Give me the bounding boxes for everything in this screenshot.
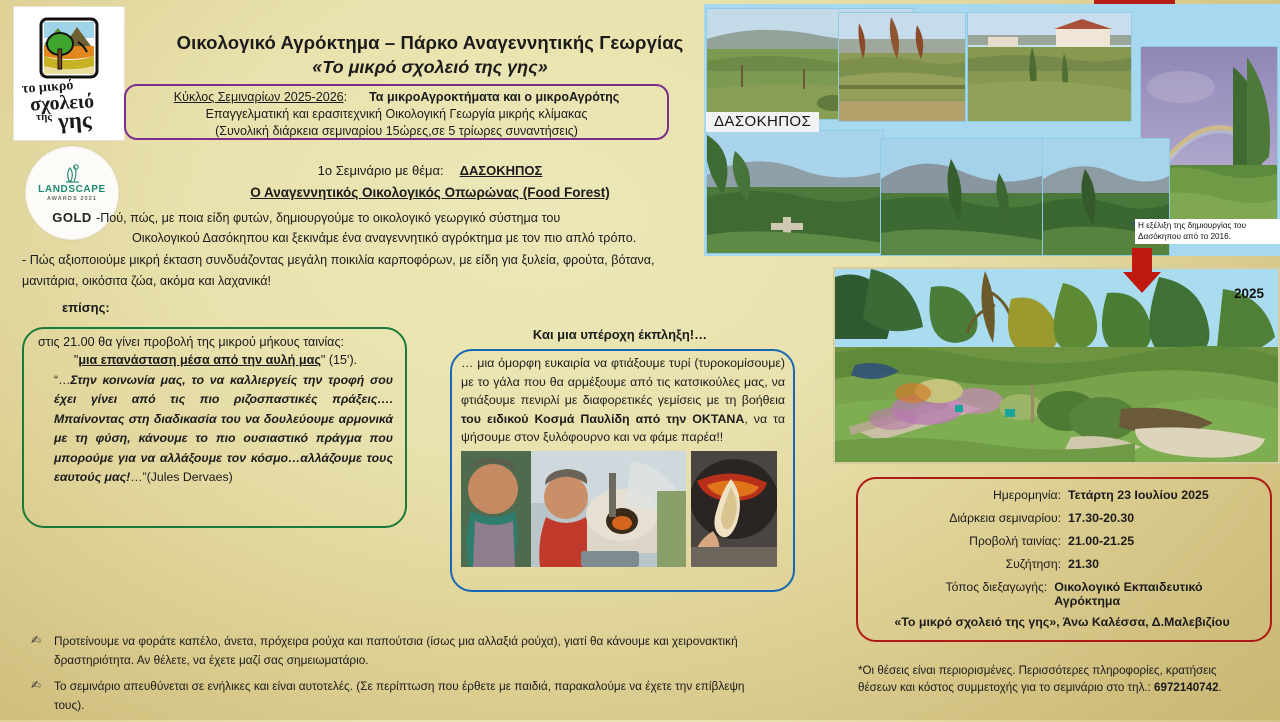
detail-row-duration: Διάρκεια σεμιναρίου: 17.30-20.30 xyxy=(868,511,1256,525)
seminar-heading: 1ο Σεμινάριο με θέμα:ΔΑΣΟΚΗΠΟΣ xyxy=(150,163,710,178)
note-text-1: Προτείνουμε να φοράτε καπέλο, άνετα, πρό… xyxy=(54,632,763,670)
detail-value-date: Τετάρτη 23 Ιουλίου 2025 xyxy=(1068,488,1209,502)
booking-footnote: *Οι θέσεις είναι περιορισμένες. Περισσότ… xyxy=(858,662,1258,696)
detail-value-discussion: 21.30 xyxy=(1068,557,1099,571)
poster-canvas: το μικρό σχολειό της γης LANDSCAPE AWARD… xyxy=(0,0,1280,720)
collage-photo-2020-mid xyxy=(880,138,1048,256)
food-forest-garden-2025-photo: 2025 xyxy=(833,267,1280,464)
seminar-paragraph-1a: -Πού, πώς, με ποια είδη φυτών, δημιουργο… xyxy=(96,211,560,225)
detail-venue-address: «Το μικρό σχολειό της γης», Άνω Καλέσσα,… xyxy=(868,614,1256,631)
collage-photo-2018 xyxy=(838,12,966,122)
seminar-cycle-box: Κύκλος Σεμιναρίων 2025-2026:Τα μικροΑγρο… xyxy=(124,84,669,140)
collage-label-dasokipos: ΔΑΣΟΚΗΠΟΣ xyxy=(706,112,819,132)
photo-year-2025: 2025 xyxy=(1234,286,1264,301)
collage-photo-2019 xyxy=(967,12,1132,122)
detail-label-duration: Διάρκεια σεμιναρίου: xyxy=(868,511,1068,525)
logo-word-3: της xyxy=(36,111,52,123)
film-screening-box: στις 21.00 θα γίνει προβολή της μικρού μ… xyxy=(22,327,407,528)
collage-photo-2020-left xyxy=(706,130,884,254)
seminar-paragraph-1b: Οικολογικού Δασόκηπου και ξεκινάμε ένα α… xyxy=(96,228,712,248)
film-duration: " (15'). xyxy=(321,353,357,367)
logo-wordmark: το μικρό σχολειό της γης xyxy=(14,78,124,138)
surprise-photos xyxy=(461,451,785,567)
detail-row-venue: Τόπος διεξαγωγής: Οικολογικό Εκπαιδευτικ… xyxy=(868,580,1256,608)
hand-pointer-icon: ✍ xyxy=(18,677,54,715)
detail-label-venue: Τόπος διεξαγωγής: xyxy=(868,580,1054,594)
detail-value-venue: Οικολογικό Εκπαιδευτικό Αγρόκτημα xyxy=(1054,580,1256,608)
cycle-label: Κύκλος Σεμιναρίων 2025-2026 xyxy=(174,90,344,104)
detail-value-duration: 17.30-20.30 xyxy=(1068,511,1134,525)
school-logo: το μικρό σχολειό της γης xyxy=(13,6,125,141)
page-subtitle: «Το μικρό σχολειό της γης» xyxy=(150,57,710,78)
logo-word-4: γης xyxy=(57,107,92,135)
detail-label-screening: Προβολή ταινίας: xyxy=(868,534,1068,548)
tree-hills-logo-icon xyxy=(38,16,100,80)
film-quote-lead: “… xyxy=(54,373,70,387)
cycle-line: Κύκλος Σεμιναρίων 2025-2026:Τα μικροΑγρο… xyxy=(126,89,667,106)
contact-phone: 6972140742 xyxy=(1154,681,1218,694)
cycle-line-2: Επαγγελματική και ερασιτεχνική Οικολογικ… xyxy=(126,106,667,123)
list-item: ✍ Το σεμινάριο απευθύνεται σε ενήλικες κ… xyxy=(18,677,763,715)
film-quote: “…Στην κοινωνία μας, το να καλλιεργείς τ… xyxy=(38,371,393,487)
film-title-line: "μια επανάσταση μέσα από την αυλή μας" (… xyxy=(38,351,393,370)
surprise-text: … μια όμορφη ευκαιρία να φτιάξουμε τυρί … xyxy=(461,354,785,447)
surprise-text-a: … μια όμορφη ευκαιρία να φτιάξουμε τυρί … xyxy=(461,356,785,407)
film-title: μια επανάσταση μέσα από την αυλή μας xyxy=(78,353,321,367)
notes-list: ✍ Προτείνουμε να φοράτε καπέλο, άνετα, π… xyxy=(18,632,763,722)
detail-row-date: Ημερομηνία: Τετάρτη 23 Ιουλίου 2025 xyxy=(868,488,1256,502)
red-down-arrow-icon xyxy=(1122,248,1162,294)
film-quote-body: Στην κοινωνία μας, το να καλλιεργείς την… xyxy=(54,373,393,484)
cycle-topic: Τα μικροΑγροκτήματα και ο μικροΑγρότης xyxy=(369,90,619,104)
two-men-smiling-wood-oven-photo xyxy=(461,451,686,567)
hand-holding-peynirli-photo xyxy=(691,451,777,567)
seminar-paragraph-2: - Πώς αξιοποιούμε μικρή έκταση συνδυάζον… xyxy=(22,250,712,292)
seminar-prefix: 1ο Σεμινάριο με θέμα: xyxy=(318,163,444,178)
surprise-expert: του ειδικού Κοσμά Παυλίδη από την ΟΚΤΑΝΑ xyxy=(461,412,744,426)
film-quote-attribution: …”(Jules Dervaes) xyxy=(130,470,233,484)
collage-caption: Η εξέλιξη της δημιουργίας του Δασόκηπου … xyxy=(1135,219,1280,244)
seminar-paragraph-1: -Πού, πώς, με ποια είδη φυτών, δημιουργο… xyxy=(96,208,712,248)
event-details-box: Ημερομηνία: Τετάρτη 23 Ιουλίου 2025 Διάρ… xyxy=(856,477,1272,642)
award-brand: LANDSCAPE xyxy=(38,184,106,195)
film-intro-line: στις 21.00 θα γίνει προβολή της μικρού μ… xyxy=(38,333,393,351)
award-subtitle: AWARDS 2021 xyxy=(47,196,97,202)
detail-row-screening: Προβολή ταινίας: 21.00-21.25 xyxy=(868,534,1256,548)
detail-label-discussion: Συζήτηση: xyxy=(868,557,1068,571)
surprise-box: … μια όμορφη ευκαιρία να φτιάξουμε τυρί … xyxy=(450,349,795,592)
list-item: ✍ Προτείνουμε να φοράτε καπέλο, άνετα, π… xyxy=(18,632,763,670)
hand-pointer-icon: ✍ xyxy=(18,632,54,670)
cycle-line-3: (Συνολική διάρκεια σεμιναρίου 15ώρες,σε … xyxy=(126,123,667,140)
detail-label-date: Ημερομηνία: xyxy=(868,488,1068,502)
seminar-topic: ΔΑΣΟΚΗΠΟΣ xyxy=(460,163,543,178)
detail-value-screening: 21.00-21.25 xyxy=(1068,534,1134,548)
footnote-text-end: . xyxy=(1219,681,1222,694)
note-text-2: Το σεμινάριο απευθύνεται σε ενήλικες και… xyxy=(54,677,763,715)
also-label: επίσης: xyxy=(62,300,110,315)
landscape-award-icon xyxy=(62,161,82,183)
seminar-subtitle: Ο Αναγεννητικός Οικολογικός Οπωρώνας (Fo… xyxy=(150,185,710,200)
award-level: GOLD xyxy=(52,210,92,225)
cycle-colon: : xyxy=(344,90,347,104)
detail-row-discussion: Συζήτηση: 21.30 xyxy=(868,557,1256,571)
page-title: Οικολογικό Αγρόκτημα – Πάρκο Αναγεννητικ… xyxy=(150,32,710,54)
surprise-heading: Και μια υπέροχη έκπληξη!… xyxy=(455,327,785,342)
